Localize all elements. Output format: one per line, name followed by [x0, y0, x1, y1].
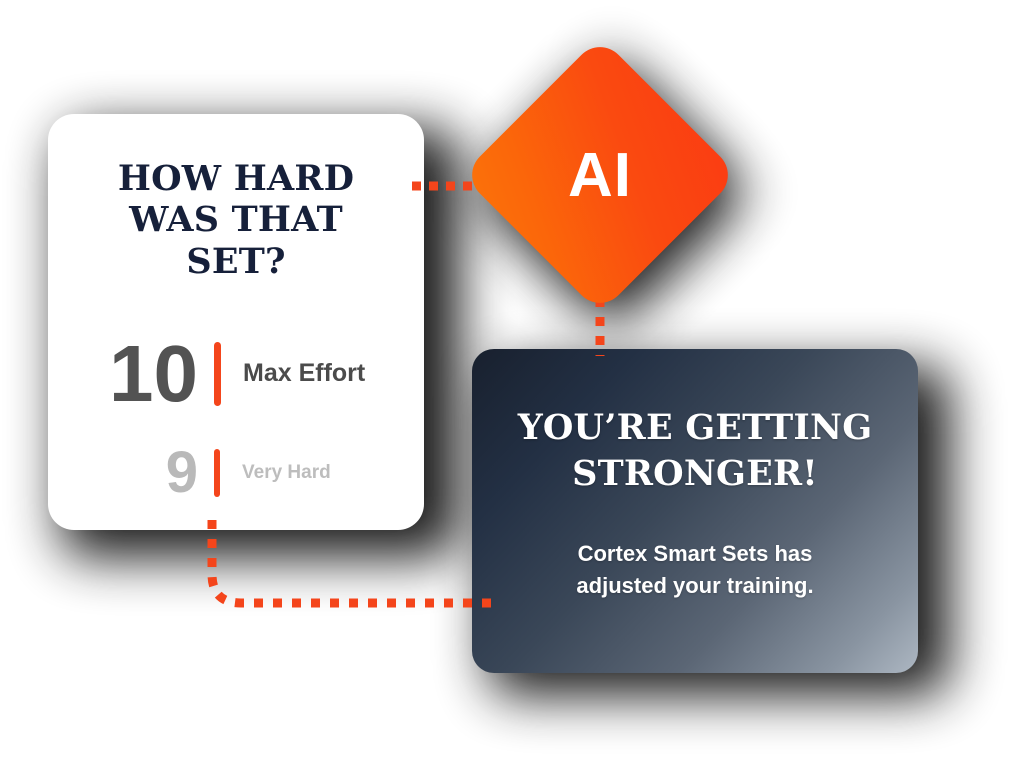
rpe-option-label: Max Effort: [243, 361, 365, 386]
rpe-option-list: 10 Max Effort 9 Very Hard: [82, 334, 390, 502]
feedback-card-title: YOU’RE GETTING STRONGER!: [518, 405, 873, 496]
rpe-card-title-line-1: HOW HARD: [118, 158, 354, 199]
rpe-option-score: 9: [90, 444, 198, 502]
rpe-option-9[interactable]: 9 Very Hard: [82, 444, 390, 502]
rpe-option-accent-bar: [214, 342, 221, 406]
connector-card-to-feedback-icon: [190, 516, 500, 626]
ai-feedback-card[interactable]: YOU’RE GETTING STRONGER! Cortex Smart Se…: [472, 349, 918, 673]
ai-diamond-badge[interactable]: [461, 36, 738, 313]
feedback-card-subtitle: Cortex Smart Sets has adjusted your trai…: [576, 538, 813, 602]
rpe-card-title: HOW HARD WAS THAT SET?: [82, 158, 390, 282]
rpe-option-label: Very Hard: [242, 463, 331, 482]
feedback-card-title-line-1: YOU’RE GETTING: [518, 407, 873, 448]
rpe-option-accent-bar: [214, 449, 220, 497]
feedback-card-title-line-2: STRONGER!: [572, 453, 818, 494]
how-hard-was-that-set-card[interactable]: HOW HARD WAS THAT SET? 10 Max Effort 9 V…: [48, 114, 424, 530]
feedback-card-subtitle-line-1: Cortex Smart Sets has: [578, 541, 813, 566]
feedback-card-subtitle-line-2: adjusted your training.: [576, 573, 813, 598]
illustration-stage: HOW HARD WAS THAT SET? 10 Max Effort 9 V…: [0, 0, 1024, 783]
rpe-option-score: 10: [90, 334, 198, 414]
rpe-option-10[interactable]: 10 Max Effort: [82, 334, 390, 414]
rpe-card-title-line-2: WAS THAT SET?: [129, 199, 343, 281]
